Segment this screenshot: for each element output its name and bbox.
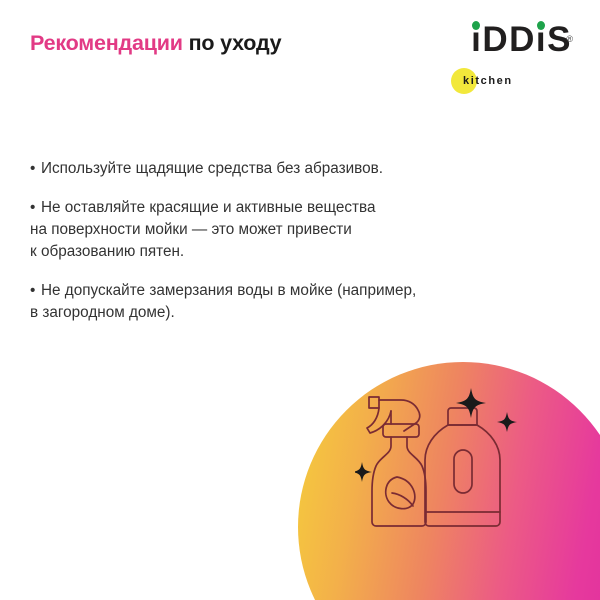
list-item-text: Не допускайте замерзания воды в мойке (н… [30, 282, 416, 321]
bullet-icon: • [30, 197, 41, 219]
page-title-plain: по уходу [183, 31, 282, 55]
care-recommendations-page: Рекомендации по уходу iDDiS ® kitchen •И… [0, 0, 600, 600]
spray-bottle-icon [367, 397, 426, 526]
logo-letters-dd: DD [482, 20, 536, 59]
logo-letter-i-first: i [471, 22, 482, 58]
list-item-text: Не оставляйте красящие и активные вещест… [30, 199, 376, 260]
green-dot-icon [537, 21, 545, 30]
iddis-wordmark: iDDiS ® [432, 22, 572, 58]
page-title-accent: Рекомендации [30, 31, 183, 55]
registered-trademark-icon: ® [566, 21, 573, 57]
bullet-icon: • [30, 158, 41, 180]
bullet-icon: • [30, 280, 41, 302]
bottles-artwork [355, 388, 545, 553]
iddis-kitchen-sublogo: kitchen [451, 68, 543, 94]
kitchen-label: kitchen [463, 74, 513, 88]
list-item: •Используйте щадящие средства без абрази… [30, 158, 530, 180]
list-item: •Не оставляйте красящие и активные вещес… [30, 197, 530, 263]
iddis-logo: iDDiS ® kitchen [432, 22, 572, 94]
detergent-bottle-icon [425, 408, 500, 526]
page-title: Рекомендации по уходу [30, 33, 281, 55]
care-recommendations-list: •Используйте щадящие средства без абрази… [30, 158, 530, 341]
sparkle-large-icon [456, 388, 486, 418]
list-item: •Не допускайте замерзания воды в мойке (… [30, 280, 530, 324]
list-item-text: Используйте щадящие средства без абразив… [41, 160, 383, 177]
cleaning-products-illustration [0, 340, 600, 600]
logo-letter-i-second: i [536, 22, 547, 58]
sparkle-small-icon [497, 412, 517, 432]
sparkle-left-icon [355, 462, 372, 482]
page-header: Рекомендации по уходу iDDiS ® kitchen [0, 0, 600, 115]
